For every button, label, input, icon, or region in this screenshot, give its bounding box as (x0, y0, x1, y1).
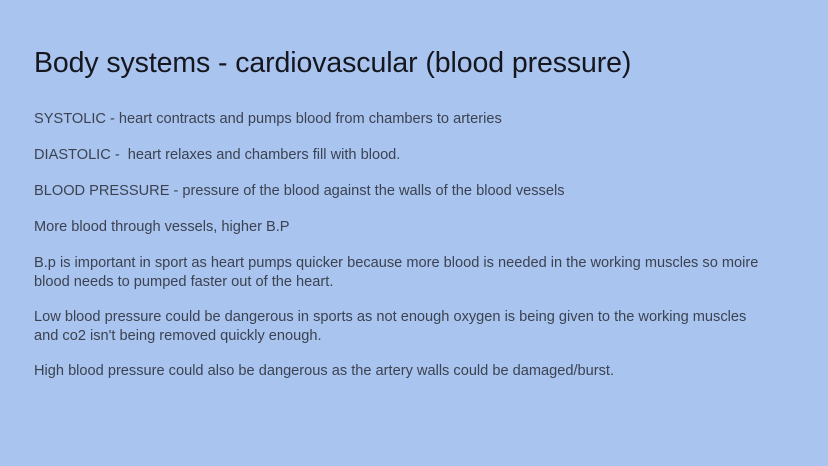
body-paragraph-diastolic: DIASTOLIC - heart relaxes and chambers f… (34, 146, 772, 165)
body-paragraph-sport-importance: B.p is important in sport as heart pumps… (34, 254, 772, 292)
body-paragraph-high-blood-pressure: High blood pressure could also be danger… (34, 362, 772, 381)
body-paragraph-systolic: SYSTOLIC - heart contracts and pumps blo… (34, 110, 772, 129)
page-title: Body systems - cardiovascular (blood pre… (34, 46, 794, 80)
body-paragraph-more-blood: More blood through vessels, higher B.P (34, 218, 772, 237)
body-paragraph-blood-pressure: BLOOD PRESSURE - pressure of the blood a… (34, 182, 772, 201)
slide-canvas: Body systems - cardiovascular (blood pre… (0, 0, 828, 466)
slide-body-content: SYSTOLIC - heart contracts and pumps blo… (34, 110, 772, 381)
body-paragraph-low-blood-pressure: Low blood pressure could be dangerous in… (34, 308, 772, 346)
